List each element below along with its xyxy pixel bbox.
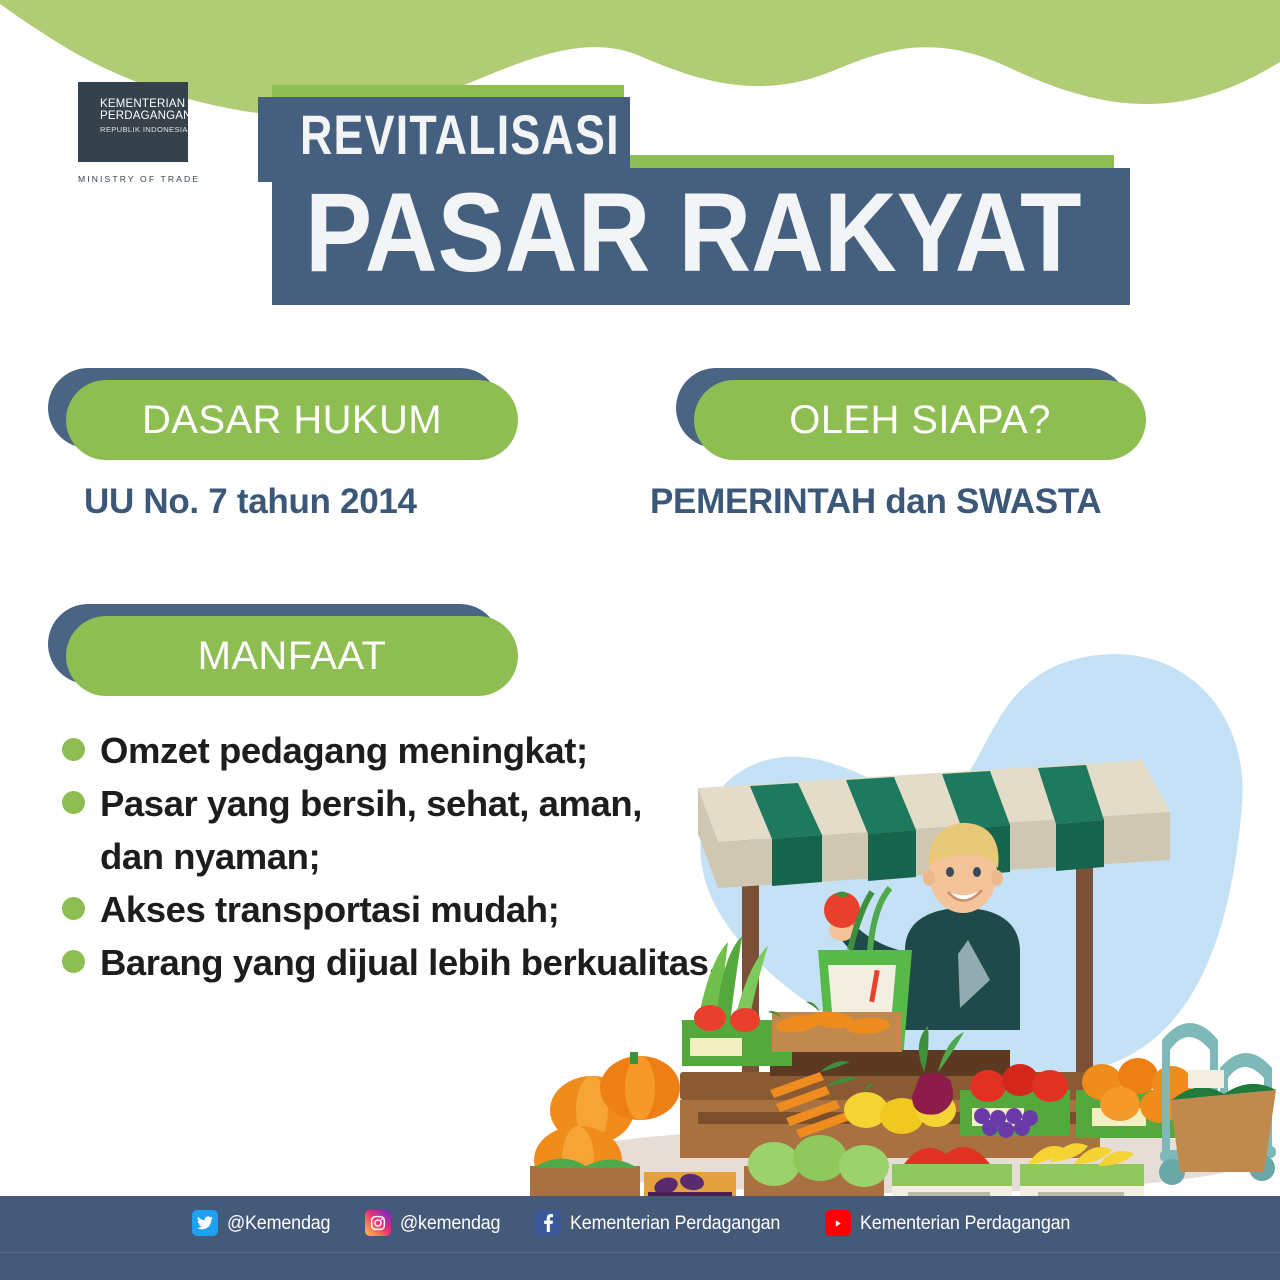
pill-face: DASAR HUKUM	[66, 380, 518, 460]
pill-manfaat: MANFAAT	[48, 604, 518, 696]
bullet-dot-icon	[62, 897, 85, 920]
pill-dasar-hukum: DASAR HUKUM	[48, 368, 518, 460]
bullet-dot-icon	[62, 950, 85, 973]
twitter-icon	[192, 1210, 218, 1236]
headline-line-2: PASAR RAKYAT	[305, 172, 1082, 294]
pill-face: MANFAAT	[66, 616, 518, 696]
pill-label-dasar-hukum: DASAR HUKUM	[142, 398, 442, 443]
social-handle: Kementerian Perdagangan	[570, 1212, 780, 1235]
facebook-icon	[535, 1210, 561, 1236]
pill-label-manfaat: MANFAAT	[198, 634, 387, 679]
bullet-dot-placeholder	[62, 844, 85, 867]
social-youtube[interactable]: Kementerian Perdagangan	[825, 1210, 1089, 1236]
logo-box	[78, 82, 188, 162]
instagram-icon	[365, 1210, 391, 1236]
social-handle: Kementerian Perdagangan	[860, 1212, 1070, 1235]
headline-line-1: REVITALISASI	[300, 104, 620, 166]
social-handle: @Kemendag	[227, 1212, 330, 1235]
infographic-poster: KEMENTERIAN PERDAGANGAN REPUBLIK INDONES…	[0, 0, 1280, 1280]
pill-label-oleh-siapa: OLEH SIAPA?	[789, 398, 1051, 443]
social-handle: @kemendag	[400, 1212, 500, 1235]
stall-post-right	[1076, 835, 1093, 1080]
ministry-logo: KEMENTERIAN PERDAGANGAN REPUBLIK INDONES…	[78, 82, 204, 192]
footer-bar: @Kemendag @kemendag Kementerian Perdagan…	[0, 1196, 1280, 1280]
social-facebook[interactable]: Kementerian Perdagangan	[535, 1210, 799, 1236]
pill-face: OLEH SIAPA?	[694, 380, 1146, 460]
youtube-icon	[825, 1210, 851, 1236]
red-peppers-crate	[960, 1064, 1070, 1138]
tomato	[824, 892, 860, 928]
hand-cart	[1159, 1023, 1276, 1185]
logo-line-1: KEMENTERIAN	[100, 99, 185, 111]
logo-motto: MINISTRY OF TRADE	[78, 174, 200, 184]
market-stall-illustration	[520, 620, 1280, 1210]
bullet-dot-icon	[62, 738, 85, 761]
logo-line-2: PERDAGANGAN	[100, 111, 192, 123]
social-instagram[interactable]: @kemendag	[365, 1210, 509, 1236]
value-oleh-siapa: PEMERINTAH dan SWASTA	[650, 482, 1101, 522]
social-twitter[interactable]: @Kemendag	[192, 1210, 339, 1236]
logo-line-3: REPUBLIK INDONESIA	[100, 125, 188, 134]
list-item-label: dan nyaman;	[100, 831, 320, 882]
pill-oleh-siapa: OLEH SIAPA?	[676, 368, 1146, 460]
value-dasar-hukum: UU No. 7 tahun 2014	[84, 482, 417, 522]
bullet-dot-icon	[62, 791, 85, 814]
footer-divider	[0, 1252, 1280, 1253]
list-item-label: Akses transportasi mudah;	[100, 884, 559, 935]
list-item-label: Omzet pedagang meningkat;	[100, 725, 588, 776]
